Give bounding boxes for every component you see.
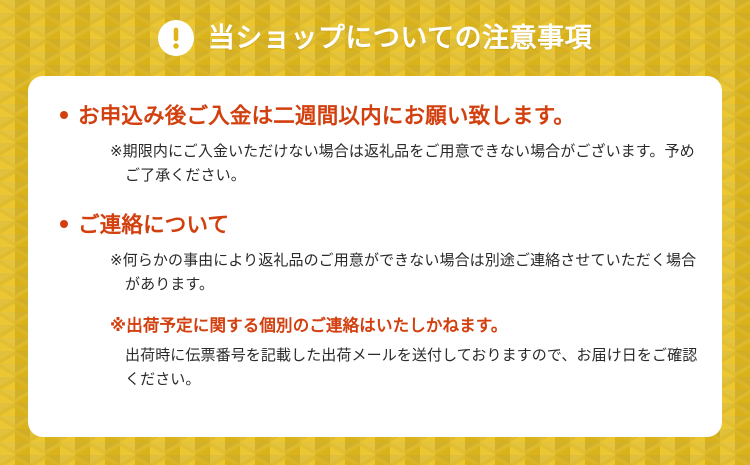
exclamation-circle-icon — [158, 20, 194, 56]
bullet-dot-icon — [50, 102, 78, 119]
bullet-dot-icon — [50, 211, 78, 228]
notice-heading-row: ご連絡について — [50, 211, 700, 240]
notice-note: ※何らかの事由により返礼品のご用意ができない場合は別途ご連絡させていただく場合が… — [110, 249, 700, 298]
notice-banner: 当ショップについての注意事項 お申込み後ご入金は二週間以内にお願い致します。 ※… — [0, 0, 750, 465]
notice-heading-row: お申込み後ご入金は二週間以内にお願い致します。 — [50, 102, 700, 131]
notice-title: ご連絡について — [78, 211, 229, 240]
banner-header: 当ショップについての注意事項 — [0, 13, 750, 63]
notice-note-detail: 出荷時に伝票番号を記載した出荷メールを送付しておりますので、お届け日をご確認くだ… — [110, 344, 700, 393]
notice-note-emphasis: ※出荷予定に関する個別のご連絡はいたしかねます。 — [110, 313, 700, 340]
notice-note: ※期限内にご入金いただけない場合は返礼品をご用意できない場合がございます。予めご… — [110, 140, 700, 189]
notice-item-payment: お申込み後ご入金は二週間以内にお願い致します。 ※期限内にご入金いただけない場合… — [50, 102, 700, 189]
notice-card: お申込み後ご入金は二週間以内にお願い致します。 ※期限内にご入金いただけない場合… — [28, 76, 722, 437]
notice-item-contact: ご連絡について ※何らかの事由により返礼品のご用意ができない場合は別途ご連絡させ… — [50, 211, 700, 393]
notice-title: お申込み後ご入金は二週間以内にお願い致します。 — [78, 102, 575, 131]
page-title: 当ショップについての注意事項 — [208, 25, 592, 52]
